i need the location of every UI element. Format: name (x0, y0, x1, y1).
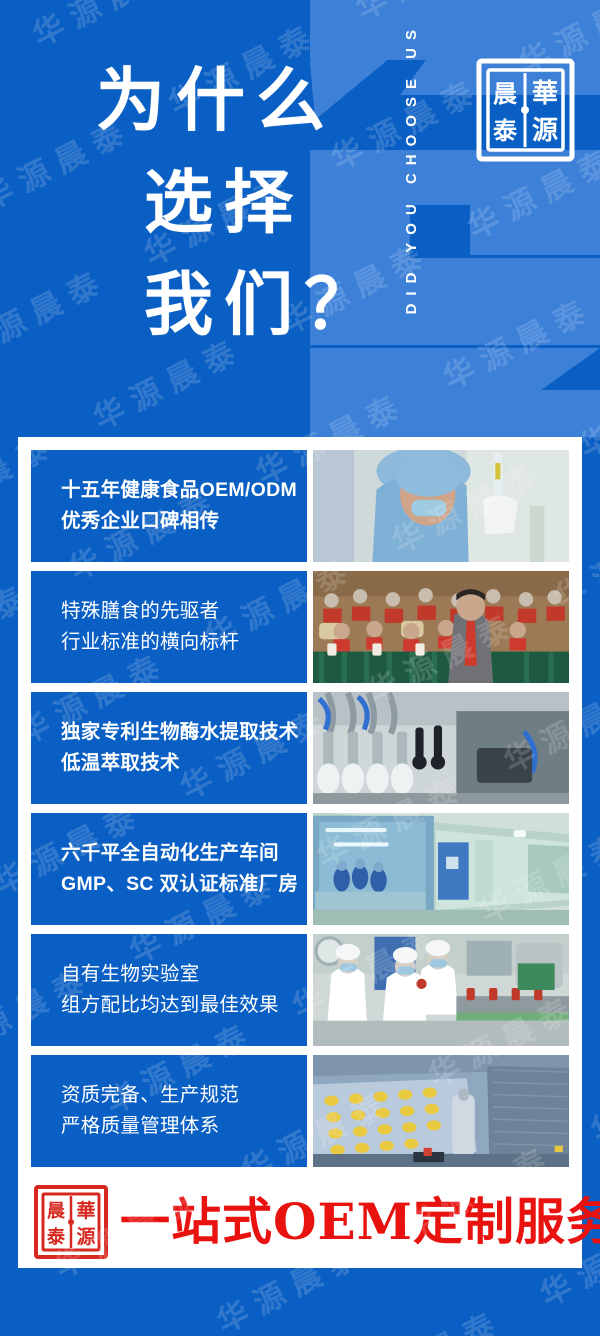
feature-3-line-2: 低温萃取技术 (61, 748, 307, 779)
feature-6-line-1: 资质完备、生产规范 (61, 1080, 307, 1111)
feature-5-line-1: 自有生物实验室 (61, 959, 307, 990)
feature-4-line-1: 六千平全自动化生产车间 (61, 838, 307, 869)
main-title: 为什么 选择 我们？ (96, 50, 384, 356)
feature-row: 特殊膳食的先驱者 行业标准的横向标杆 (31, 571, 569, 683)
feature-2-line-1: 特殊膳食的先驱者 (61, 596, 307, 627)
feature-card-3[interactable]: 独家专利生物酶水提取技术 低温萃取技术 (31, 692, 307, 804)
svg-text:源: 源 (532, 116, 558, 146)
feature-card-5[interactable]: 自有生物实验室 组方配比均达到最佳效果 (31, 934, 307, 1046)
workers-inspection-photo (313, 934, 569, 1046)
company-seal-white-icon: 華 源 晨 泰 (473, 55, 578, 165)
feature-row: 六千平全自动化生产车间 GMP、SC 双认证标准厂房 (31, 813, 569, 925)
feature-1-line-2: 优秀企业口碑相传 (61, 506, 307, 537)
title-line-3: 我们？ (144, 254, 384, 356)
watermark-text: 华源晨泰 (582, 1036, 600, 1151)
cleanroom-corridor-photo (313, 813, 569, 925)
feature-row: 资质完备、生产规范 严格质量管理体系 (31, 1055, 569, 1167)
vertical-english-caption: DID YOU CHOOSE US (398, 22, 424, 412)
blister-packing-photo (313, 1055, 569, 1167)
header-section: 为什么 选择 我们？ DID YOU CHOOSE US 華 源 晨 泰 (0, 0, 600, 437)
feature-6-line-2: 严格质量管理体系 (61, 1111, 307, 1142)
feature-row: 自有生物实验室 组方配比均达到最佳效果 (31, 934, 569, 1046)
feature-2-line-2: 行业标准的横向标杆 (61, 627, 307, 658)
features-frame: 十五年健康食品OEM/ODM 优秀企业口碑相传 (18, 437, 582, 1247)
watermark-text: 华源晨泰 (344, 1296, 511, 1336)
feature-5-line-2: 组方配比均达到最佳效果 (61, 990, 307, 1021)
poster-root: 为什么 选择 我们？ DID YOU CHOOSE US 華 源 晨 泰 (0, 0, 600, 1336)
footer-banner: 華 源 晨 泰 一站式OEM定制服务 (18, 1175, 582, 1268)
feature-card-2[interactable]: 特殊膳食的先驱者 行业标准的横向标杆 (31, 571, 307, 683)
feature-3-line-1: 独家专利生物酶水提取技术 (61, 717, 307, 748)
feature-4-line-2: GMP、SC 双认证标准厂房 (61, 869, 307, 900)
svg-text:華: 華 (76, 1199, 95, 1222)
feature-1-line-1: 十五年健康食品OEM/ODM (61, 475, 307, 506)
feature-card-6[interactable]: 资质完备、生产规范 严格质量管理体系 (31, 1055, 307, 1167)
svg-text:泰: 泰 (46, 1226, 66, 1248)
feature-row: 独家专利生物酶水提取技术 低温萃取技术 (31, 692, 569, 804)
title-line-2: 选择 (144, 152, 384, 254)
feature-card-4[interactable]: 六千平全自动化生产车间 GMP、SC 双认证标准厂房 (31, 813, 307, 925)
svg-text:華: 華 (532, 79, 558, 109)
svg-text:源: 源 (76, 1225, 95, 1248)
lab-technician-photo (313, 450, 569, 562)
filling-machine-photo (313, 692, 569, 804)
vertical-english-text: DID YOU CHOOSE US (403, 22, 420, 314)
svg-text:晨: 晨 (47, 1201, 66, 1222)
title-line-1: 为什么 (96, 50, 384, 152)
conference-audience-photo (313, 571, 569, 683)
svg-text:晨: 晨 (493, 79, 518, 108)
svg-text:泰: 泰 (493, 116, 518, 145)
features-list: 十五年健康食品OEM/ODM 优秀企业口碑相传 (31, 450, 569, 1167)
feature-card-1[interactable]: 十五年健康食品OEM/ODM 优秀企业口碑相传 (31, 450, 307, 562)
footer-slogan: 一站式OEM定制服务 (120, 1194, 600, 1250)
feature-row: 十五年健康食品OEM/ODM 优秀企业口碑相传 (31, 450, 569, 562)
company-seal-red-icon: 華 源 晨 泰 (32, 1183, 110, 1261)
